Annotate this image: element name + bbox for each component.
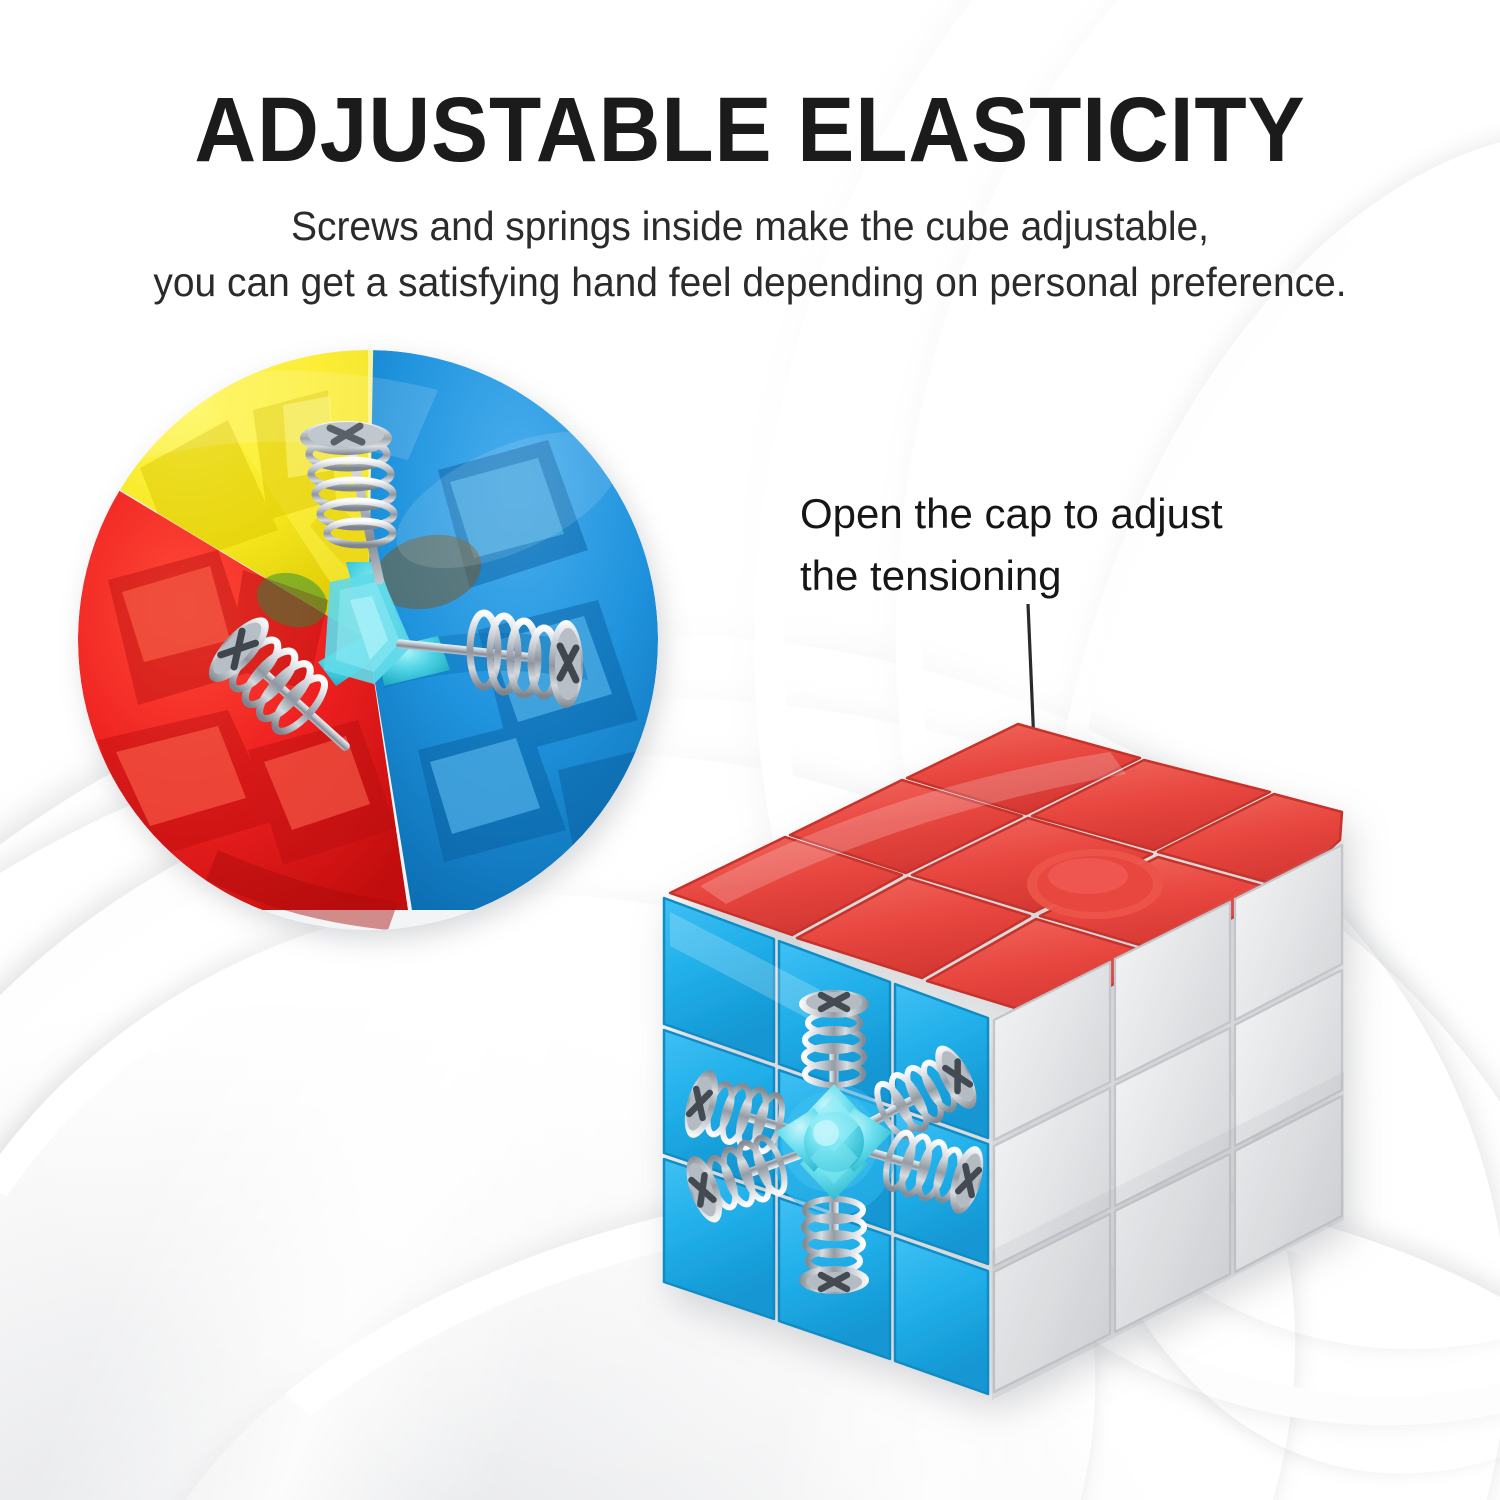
page-title: ADJUSTABLE ELASTICITY [53, 78, 1448, 183]
callout-text: Open the cap to adjust the tensioning [800, 483, 1223, 607]
rubiks-cube-with-core [640, 690, 1380, 1430]
subtitle-line-2: you can get a satisfying hand feel depen… [38, 254, 1463, 310]
subtitle: Screws and springs inside make the cube … [38, 198, 1463, 310]
subtitle-line-1: Screws and springs inside make the cube … [38, 198, 1463, 254]
callout-line-1: Open the cap to adjust [800, 483, 1223, 545]
product-feature-banner: ADJUSTABLE ELASTICITY Screws and springs… [0, 0, 1500, 1500]
cube-core-closeup-inset [78, 350, 658, 930]
callout-line-2: the tensioning [800, 545, 1223, 607]
